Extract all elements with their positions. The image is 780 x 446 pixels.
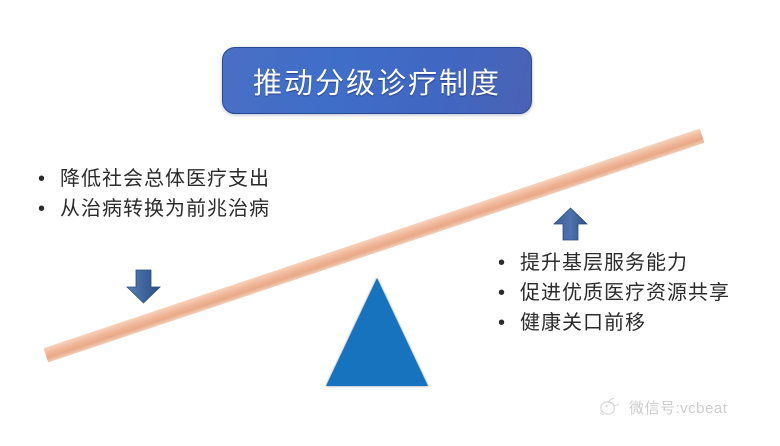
left-benefits-list: • 降低社会总体医疗支出 • 从治病转换为前兆治病 xyxy=(38,164,270,224)
list-item-label: 提升基层服务能力 xyxy=(520,248,688,278)
list-item-label: 促进优质医疗资源共享 xyxy=(520,278,730,308)
bullet-marker: • xyxy=(38,164,60,194)
list-item: • 促进优质医疗资源共享 xyxy=(498,278,730,308)
list-item: • 从治病转换为前兆治病 xyxy=(38,194,270,224)
list-item-label: 降低社会总体医疗支出 xyxy=(60,164,270,194)
list-item: • 降低社会总体医疗支出 xyxy=(38,164,270,194)
list-item-label: 从治病转换为前兆治病 xyxy=(60,194,270,224)
bird-logo-icon xyxy=(597,396,623,418)
right-benefits-list: • 提升基层服务能力 • 促进优质医疗资源共享 • 健康关口前移 xyxy=(498,248,730,338)
list-item: • 健康关口前移 xyxy=(498,308,730,338)
watermark-label: 微信号:vcbeat xyxy=(629,397,727,418)
list-item: • 提升基层服务能力 xyxy=(498,248,730,278)
bullet-marker: • xyxy=(498,308,520,338)
arrow-up-icon xyxy=(552,206,589,247)
watermark: 微信号:vcbeat xyxy=(597,396,727,418)
page-title: 推动分级诊疗制度 xyxy=(253,60,501,102)
seesaw-fulcrum-triangle xyxy=(326,278,428,386)
slide-title-box: 推动分级诊疗制度 xyxy=(222,47,532,114)
bullet-marker: • xyxy=(38,194,60,224)
slide-canvas: 推动分级诊疗制度 xyxy=(0,0,780,446)
bullet-marker: • xyxy=(498,248,520,278)
bullet-marker: • xyxy=(498,278,520,308)
arrow-down-icon xyxy=(125,269,162,310)
list-item-label: 健康关口前移 xyxy=(520,308,646,338)
